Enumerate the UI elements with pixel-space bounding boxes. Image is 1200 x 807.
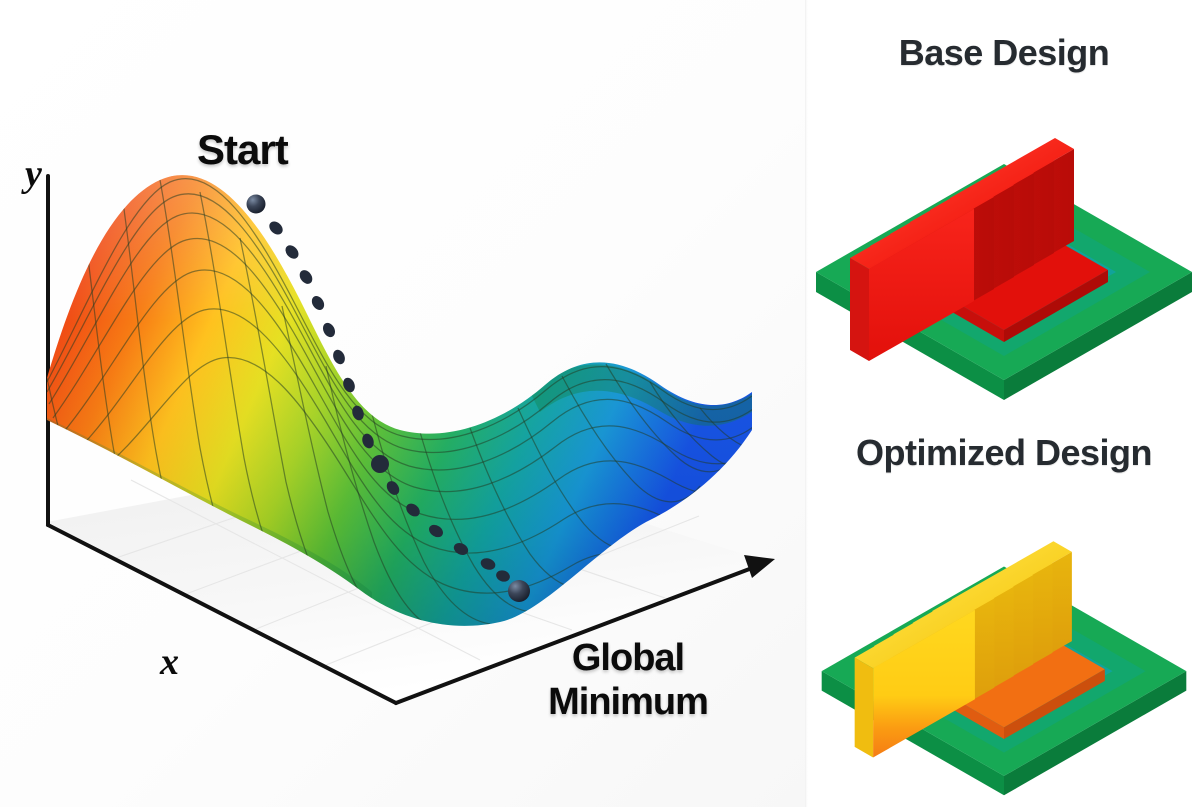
design-comparison-panel: Base Design Optimized Design	[808, 0, 1200, 807]
y-axis-label: y	[25, 152, 42, 196]
start-marker	[247, 195, 266, 214]
figure-root: y x Start Global Minimum Base Design Opt…	[0, 0, 1200, 807]
base-design-title: Base Design	[808, 32, 1200, 74]
x-axis-label: x	[160, 640, 179, 684]
global-minimum-line-1: Global	[508, 636, 748, 680]
global-minimum-line-2: Minimum	[508, 680, 748, 724]
base-design-illustration	[808, 80, 1200, 410]
start-annotation: Start	[197, 126, 288, 174]
end-marker	[508, 580, 530, 602]
optimized-design-title: Optimized Design	[808, 432, 1200, 474]
optimized-design-illustration	[808, 485, 1200, 805]
optimization-landscape-panel: y x Start Global Minimum	[0, 0, 805, 807]
global-minimum-annotation: Global Minimum	[508, 636, 748, 724]
